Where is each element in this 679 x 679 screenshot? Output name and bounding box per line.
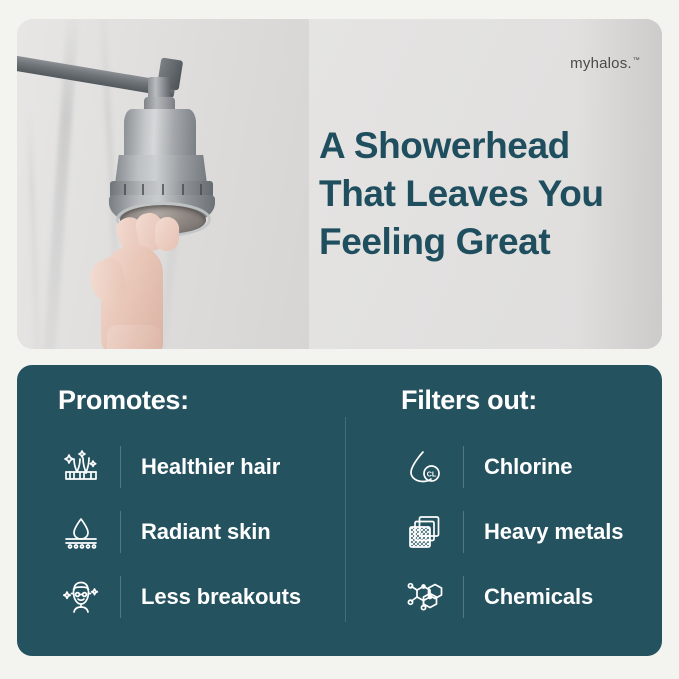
hero-panel: myhalos.™ A Showerhead That Leaves You F… [17, 19, 662, 349]
row-divider [463, 446, 464, 488]
list-item-label: Less breakouts [141, 584, 301, 610]
list-item-label: Chlorine [484, 454, 572, 480]
stacked-mesh-filters-icon [401, 509, 447, 555]
list-item-label: Chemicals [484, 584, 593, 610]
smiling-face-sparkle-icon [58, 574, 104, 620]
chlorine-droplet-cl-icon: CL [401, 444, 447, 490]
hero-copy: A Showerhead That Leaves You Feeling Gre… [319, 122, 649, 266]
marble-vein [27, 109, 41, 349]
row-divider [120, 576, 121, 618]
water-droplet-skin-pores-icon [58, 509, 104, 555]
page-title: A Showerhead That Leaves You Feeling Gre… [319, 122, 649, 266]
filters-out-heading: Filters out: [401, 385, 537, 416]
list-item: Chemicals [345, 564, 662, 629]
filters-out-column: Filters out: CL Chlorine [345, 365, 662, 656]
brand-logo-text: myhalos. [570, 55, 632, 72]
row-divider [463, 511, 464, 553]
list-item: Healthier hair [17, 434, 345, 499]
promotes-column: Promotes: [17, 365, 345, 656]
list-item: CL Chlorine [345, 434, 662, 499]
hair-follicle-sparkle-icon [58, 444, 104, 490]
list-item-label: Healthier hair [141, 454, 280, 480]
promotes-heading: Promotes: [58, 385, 189, 416]
list-item: Less breakouts [17, 564, 345, 629]
row-divider [463, 576, 464, 618]
infographic-canvas: myhalos.™ A Showerhead That Leaves You F… [0, 0, 679, 679]
trademark-mark: ™ [633, 57, 640, 64]
row-divider [120, 446, 121, 488]
chlorine-badge-text: CL [427, 469, 437, 478]
row-divider [120, 511, 121, 553]
hand [91, 215, 195, 349]
list-item: Heavy metals [345, 499, 662, 564]
list-item: Radiant skin [17, 499, 345, 564]
molecule-hexagon-icon [401, 574, 447, 620]
brand-logo: myhalos.™ [570, 55, 640, 72]
benefits-panel: Promotes: [17, 365, 662, 656]
list-item-label: Radiant skin [141, 519, 271, 545]
product-photo [17, 19, 309, 349]
list-item-label: Heavy metals [484, 519, 623, 545]
